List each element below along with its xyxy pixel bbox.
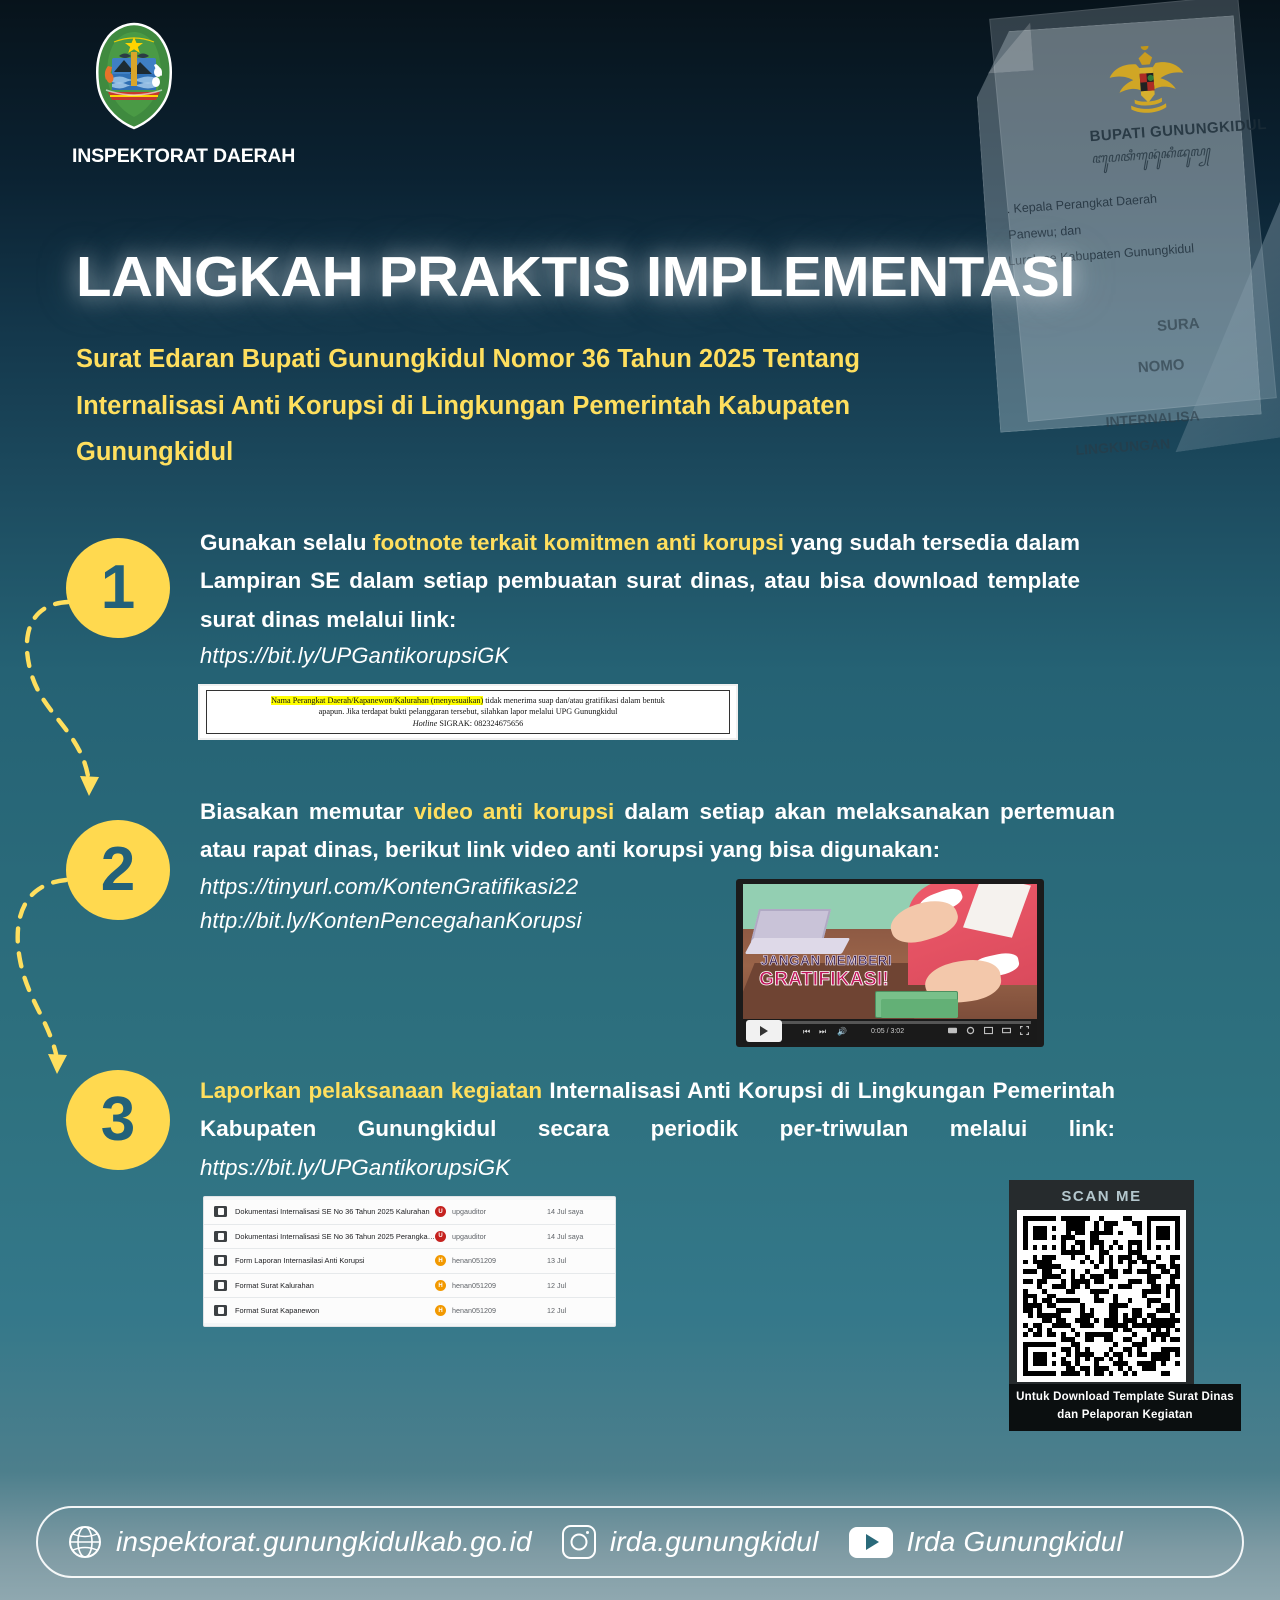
footer-website[interactable]: inspektorat.gunungkidulkab.go.id <box>68 1525 532 1559</box>
file-name: Dokumentasi Internalisasi SE No 36 Tahun… <box>235 1207 435 1216</box>
owner-name: upgauditor <box>452 1207 486 1216</box>
subtitle-line-3: Gunungkidul <box>76 429 1121 476</box>
gunungkidul-crest-icon <box>86 22 182 130</box>
file-icon <box>214 1231 227 1242</box>
footnote-line1-rest: tidak menerima suap dan/atau gratifikasi… <box>483 696 665 705</box>
file-name: Form Laporan Internasilasi Anti Korupsi <box>235 1256 435 1265</box>
qr-caption: Untuk Download Template Surat Dinas dan … <box>1009 1384 1241 1431</box>
file-icon <box>214 1255 227 1266</box>
file-icon <box>214 1280 227 1291</box>
logo-block: INSPEKTORAT DAERAH <box>72 22 262 168</box>
video-frame: JANGAN MEMBERI GRATIFIKASI! <box>743 884 1037 1021</box>
folder-icon <box>214 1305 227 1316</box>
step-1-text: Gunakan selalu footnote terkait komitmen… <box>200 524 1080 639</box>
video-miniplayer-icon[interactable] <box>984 1026 993 1035</box>
footer-youtube[interactable]: Irda Gunungkidul <box>849 1526 1123 1558</box>
step-3-highlight: Laporkan pelaksanaan kegiatan <box>200 1078 542 1103</box>
video-caption-line-2: GRATIFIKASI! <box>759 969 889 991</box>
footer-bar: inspektorat.gunungkidulkab.go.id irda.gu… <box>36 1506 1244 1578</box>
table-row[interactable]: Form Laporan Internasilasi Anti Korupsi … <box>204 1249 615 1274</box>
owner-name: henan051209 <box>452 1256 496 1265</box>
video-settings-icon[interactable] <box>966 1026 975 1035</box>
doc-word-nomor: NOMO <box>1137 356 1185 376</box>
table-row[interactable]: Format Surat Kalurahan H henan051209 12 … <box>204 1274 615 1299</box>
owner-name: upgauditor <box>452 1232 486 1241</box>
youtube-label: Irda Gunungkidul <box>907 1526 1123 1558</box>
video-next-icon[interactable]: ⏭ <box>819 1027 826 1037</box>
instagram-icon <box>562 1525 596 1559</box>
file-date: 14 Jul saya <box>547 1207 605 1216</box>
footnote-highlighted-text: Nama Perangkat Daerah/Kapanewon/Kaluraha… <box>271 696 483 705</box>
file-date: 12 Jul <box>547 1306 605 1315</box>
qr-caption-line-2: dan Pelaporan Kegiatan <box>1013 1407 1237 1425</box>
connector-arrow-1-to-2 <box>10 590 150 820</box>
garuda-emblem-icon <box>1106 43 1189 120</box>
instagram-label: irda.gunungkidul <box>610 1526 819 1558</box>
file-date: 12 Jul <box>547 1281 605 1290</box>
subtitle-line-2: Internalisasi Anti Korupsi di Lingkungan… <box>76 383 1121 430</box>
doc-word-surat: SURA <box>1156 315 1200 335</box>
connector-arrow-2-to-3 <box>10 868 150 1098</box>
page-title: LANGKAH PRAKTIS IMPLEMENTASI <box>76 248 1198 308</box>
step-2-text: Biasakan memutar video anti korupsi dala… <box>200 793 1115 870</box>
step-3-link[interactable]: https://bit.ly/UPGantikorupsiGK <box>200 1155 510 1180</box>
file-name: Dokumentasi Internalisasi SE No 36 Tahun… <box>235 1232 435 1241</box>
qr-panel: SCAN ME <box>1009 1180 1194 1405</box>
video-caption-line-1: JANGAN MEMBERI <box>761 953 893 968</box>
qr-caption-line-1: Untuk Download Template Surat Dinas <box>1016 1391 1234 1403</box>
file-owner: H henan051209 <box>435 1280 547 1291</box>
org-name-label: INSPEKTORAT DAERAH <box>72 145 262 168</box>
poster-background: BUPATI GUNUNGKIDUL ꦧꦸꦥꦠꦶꦒꦸꦤꦸꦁꦏꦶꦢꦸꦭ꧀ . Ke… <box>0 0 1280 1600</box>
table-row[interactable]: Dokumentasi Internalisasi SE No 36 Tahun… <box>204 1200 615 1225</box>
avatar: H <box>435 1280 446 1291</box>
avatar: H <box>435 1255 446 1266</box>
step-1-content: Gunakan selalu footnote terkait komitmen… <box>200 524 1080 673</box>
step-3-text: Laporkan pelaksanaan kegiatan Internalis… <box>200 1072 1115 1187</box>
step-1-link[interactable]: https://bit.ly/UPGantikorupsiGK <box>200 639 1080 673</box>
video-volume-icon[interactable]: 🔊 <box>837 1027 847 1036</box>
owner-name: henan051209 <box>452 1306 496 1315</box>
file-date: 14 Jul saya <box>547 1232 605 1241</box>
footnote-hotline-label: Hotline <box>413 719 438 728</box>
doc-address-line-2: Panewu; dan <box>1008 223 1082 242</box>
file-date: 13 Jul <box>547 1256 605 1265</box>
page-subtitle: Surat Edaran Bupati Gunungkidul Nomor 36… <box>76 336 1121 476</box>
footer-instagram[interactable]: irda.gunungkidul <box>562 1525 819 1559</box>
owner-name: henan051209 <box>452 1281 496 1290</box>
video-right-controls[interactable] <box>948 1026 1029 1035</box>
table-row[interactable]: Dokumentasi Internalisasi SE No 36 Tahun… <box>204 1225 615 1250</box>
file-name: Format Surat Kapanewon <box>235 1306 435 1315</box>
drive-file-list[interactable]: Dokumentasi Internalisasi SE No 36 Tahun… <box>203 1196 616 1327</box>
scan-me-label: SCAN ME <box>1017 1188 1186 1205</box>
avatar: U <box>435 1206 446 1217</box>
step-2-highlight: video anti korupsi <box>414 799 614 824</box>
video-prev-icon[interactable]: ⏮ <box>803 1027 810 1037</box>
laptop-illustration <box>749 909 846 956</box>
file-name: Format Surat Kalurahan <box>235 1281 435 1290</box>
video-play-button[interactable] <box>746 1020 782 1042</box>
file-owner: U upgauditor <box>435 1231 547 1242</box>
file-icon <box>214 1206 227 1217</box>
play-icon <box>760 1026 768 1036</box>
step-1-text-part1: Gunakan selalu <box>200 530 373 555</box>
footnote-line2: apapun. Jika terdapat bukti pelanggaran … <box>319 707 618 716</box>
step-2-text-part1: Biasakan memutar <box>200 799 414 824</box>
footnote-snippet-image: Nama Perangkat Daerah/Kapanewon/Kaluraha… <box>198 684 738 740</box>
video-time-label: 0:05 / 3:02 <box>871 1028 904 1035</box>
qr-code-image[interactable] <box>1017 1210 1186 1382</box>
step-1-highlight: footnote terkait komitmen anti korupsi <box>373 530 784 555</box>
subtitle-line-1: Surat Edaran Bupati Gunungkidul Nomor 36… <box>76 336 1121 383</box>
globe-icon <box>68 1525 102 1559</box>
doc-address-line-1: . Kepala Perangkat Daerah <box>1006 192 1157 216</box>
avatar: U <box>435 1231 446 1242</box>
video-control-bar[interactable]: ⏮ ⏭ 🔊 0:05 / 3:02 <box>743 1019 1037 1043</box>
table-row[interactable]: Format Surat Kapanewon H henan051209 12 … <box>204 1298 615 1323</box>
video-progress-bar[interactable] <box>749 1021 1031 1024</box>
file-owner: H henan051209 <box>435 1305 547 1316</box>
website-label: inspektorat.gunungkidulkab.go.id <box>116 1526 532 1558</box>
avatar: H <box>435 1305 446 1316</box>
video-thumbnail[interactable]: JANGAN MEMBERI GRATIFIKASI! ⏮ ⏭ 🔊 0:05 /… <box>736 879 1044 1047</box>
file-owner: U upgauditor <box>435 1206 547 1217</box>
file-owner: H henan051209 <box>435 1255 547 1266</box>
video-fullscreen-icon[interactable] <box>1020 1026 1029 1035</box>
youtube-icon <box>849 1527 893 1558</box>
video-cc-icon[interactable] <box>948 1026 957 1035</box>
video-theater-icon[interactable] <box>1002 1026 1011 1035</box>
step-3-content: Laporkan pelaksanaan kegiatan Internalis… <box>200 1072 1115 1187</box>
footnote-hotline-value: SIGRAK: 082324675656 <box>437 719 523 728</box>
